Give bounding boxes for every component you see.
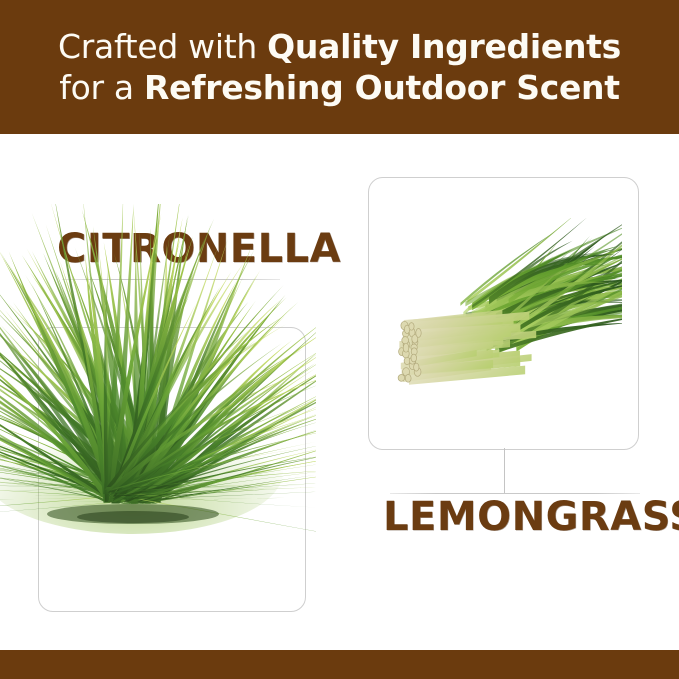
- headline-line-2-light: for a: [59, 68, 144, 107]
- citronella-image-card: [38, 327, 306, 612]
- lemongrass-image-card: [368, 177, 639, 450]
- lemongrass-label: LEMONGRASS: [383, 494, 679, 540]
- citronella-connector-line: [171, 280, 172, 327]
- footer-banner: [0, 650, 679, 679]
- headline-line-2-strong: Refreshing Outdoor Scent: [144, 68, 620, 107]
- headline-line-1: Crafted with Quality Ingredients: [58, 26, 621, 67]
- lemongrass-bundle-image: [387, 218, 622, 413]
- content-area: CITRONELLA: [0, 134, 679, 650]
- lemongrass-connector-line: [504, 448, 505, 493]
- header-banner: Crafted with Quality Ingredients for a R…: [0, 0, 679, 134]
- ingredient-infographic: Crafted with Quality Ingredients for a R…: [0, 0, 679, 679]
- headline-line-2: for a Refreshing Outdoor Scent: [59, 67, 619, 108]
- headline-line-1-light: Crafted with: [58, 27, 267, 66]
- headline-line-1-strong: Quality Ingredients: [267, 27, 621, 66]
- citronella-label: CITRONELLA: [57, 226, 341, 272]
